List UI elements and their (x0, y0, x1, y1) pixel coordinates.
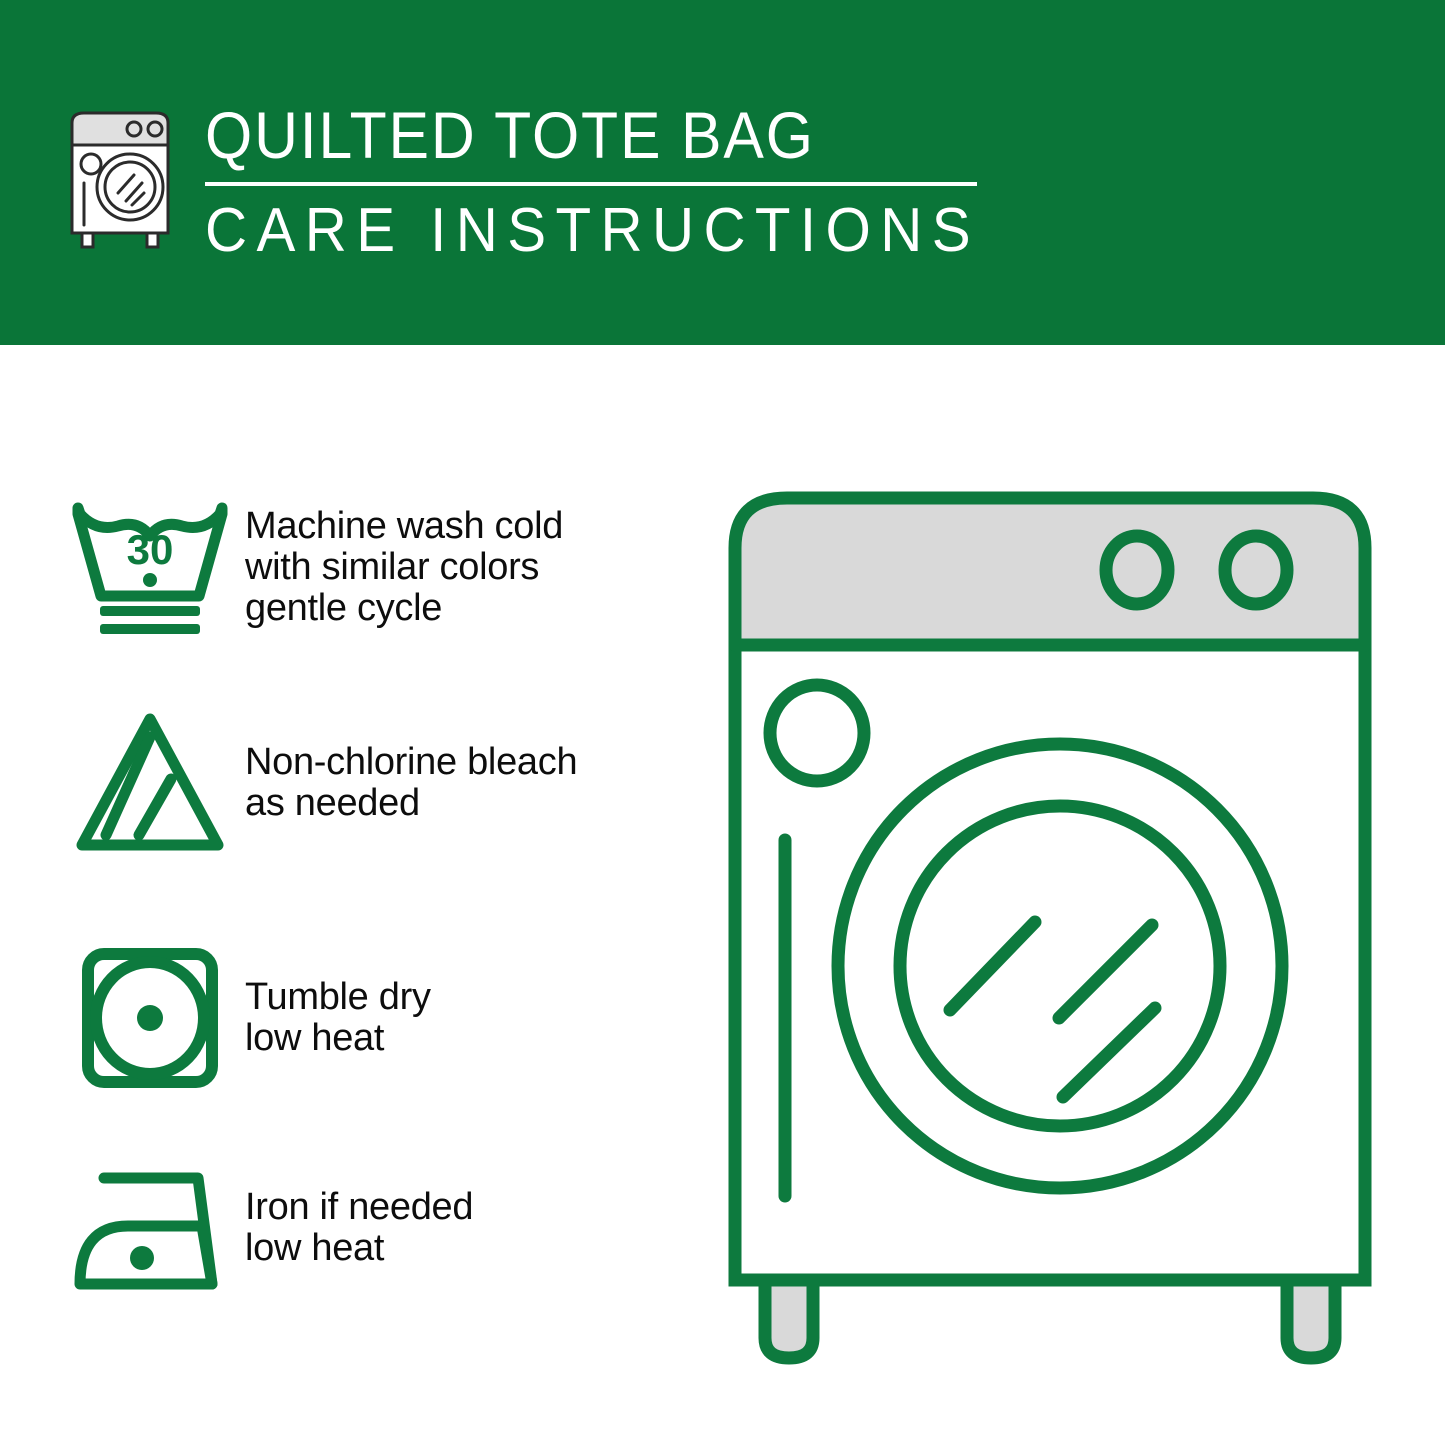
page-title: QUILTED TOTE BAG (205, 96, 932, 174)
header-divider (205, 182, 977, 186)
care-line: low heat (245, 1228, 682, 1269)
care-line: as needed (245, 783, 682, 824)
care-instructions-infographic: QUILTED TOTE BAG CARE INSTRUCTIONS 30 (0, 0, 1445, 1445)
washing-machine-icon (62, 105, 187, 250)
header-band: QUILTED TOTE BAG CARE INSTRUCTIONS (0, 0, 1445, 345)
care-instruction-row: Iron if needed low heat (62, 1140, 682, 1315)
header-text-block: QUILTED TOTE BAG CARE INSTRUCTIONS (205, 96, 995, 266)
care-line: gentle cycle (245, 588, 682, 629)
care-line: Non-chlorine bleach (245, 742, 682, 783)
care-line: Machine wash cold (245, 506, 682, 547)
iron-low-heat-symbol (62, 1152, 237, 1304)
care-instruction-text: Tumble dry low heat (237, 977, 682, 1059)
care-instruction-row: Non-chlorine bleach as needed (62, 695, 682, 870)
care-instruction-text: Machine wash cold with similar colors ge… (237, 506, 682, 629)
machine-wash-30-gentle-symbol: 30 (62, 492, 237, 644)
care-line: with similar colors (245, 547, 682, 588)
machine-leg (765, 1280, 813, 1358)
care-line: Iron if needed (245, 1187, 682, 1228)
care-instruction-row: 30 Machine wash cold with similar colors… (62, 480, 682, 655)
care-instruction-text: Iron if needed low heat (237, 1187, 682, 1269)
care-instruction-text: Non-chlorine bleach as needed (237, 742, 682, 824)
care-line: low heat (245, 1018, 682, 1059)
non-chlorine-bleach-symbol (62, 707, 237, 859)
care-instruction-row: Tumble dry low heat (62, 930, 682, 1105)
machine-leg (1287, 1280, 1335, 1358)
page-subtitle: CARE INSTRUCTIONS (205, 196, 948, 266)
tumble-dry-low-symbol (62, 942, 237, 1094)
front-load-washing-machine-illustration (705, 470, 1415, 1370)
wash-temperature-label: 30 (126, 526, 173, 573)
care-line: Tumble dry (245, 977, 682, 1018)
